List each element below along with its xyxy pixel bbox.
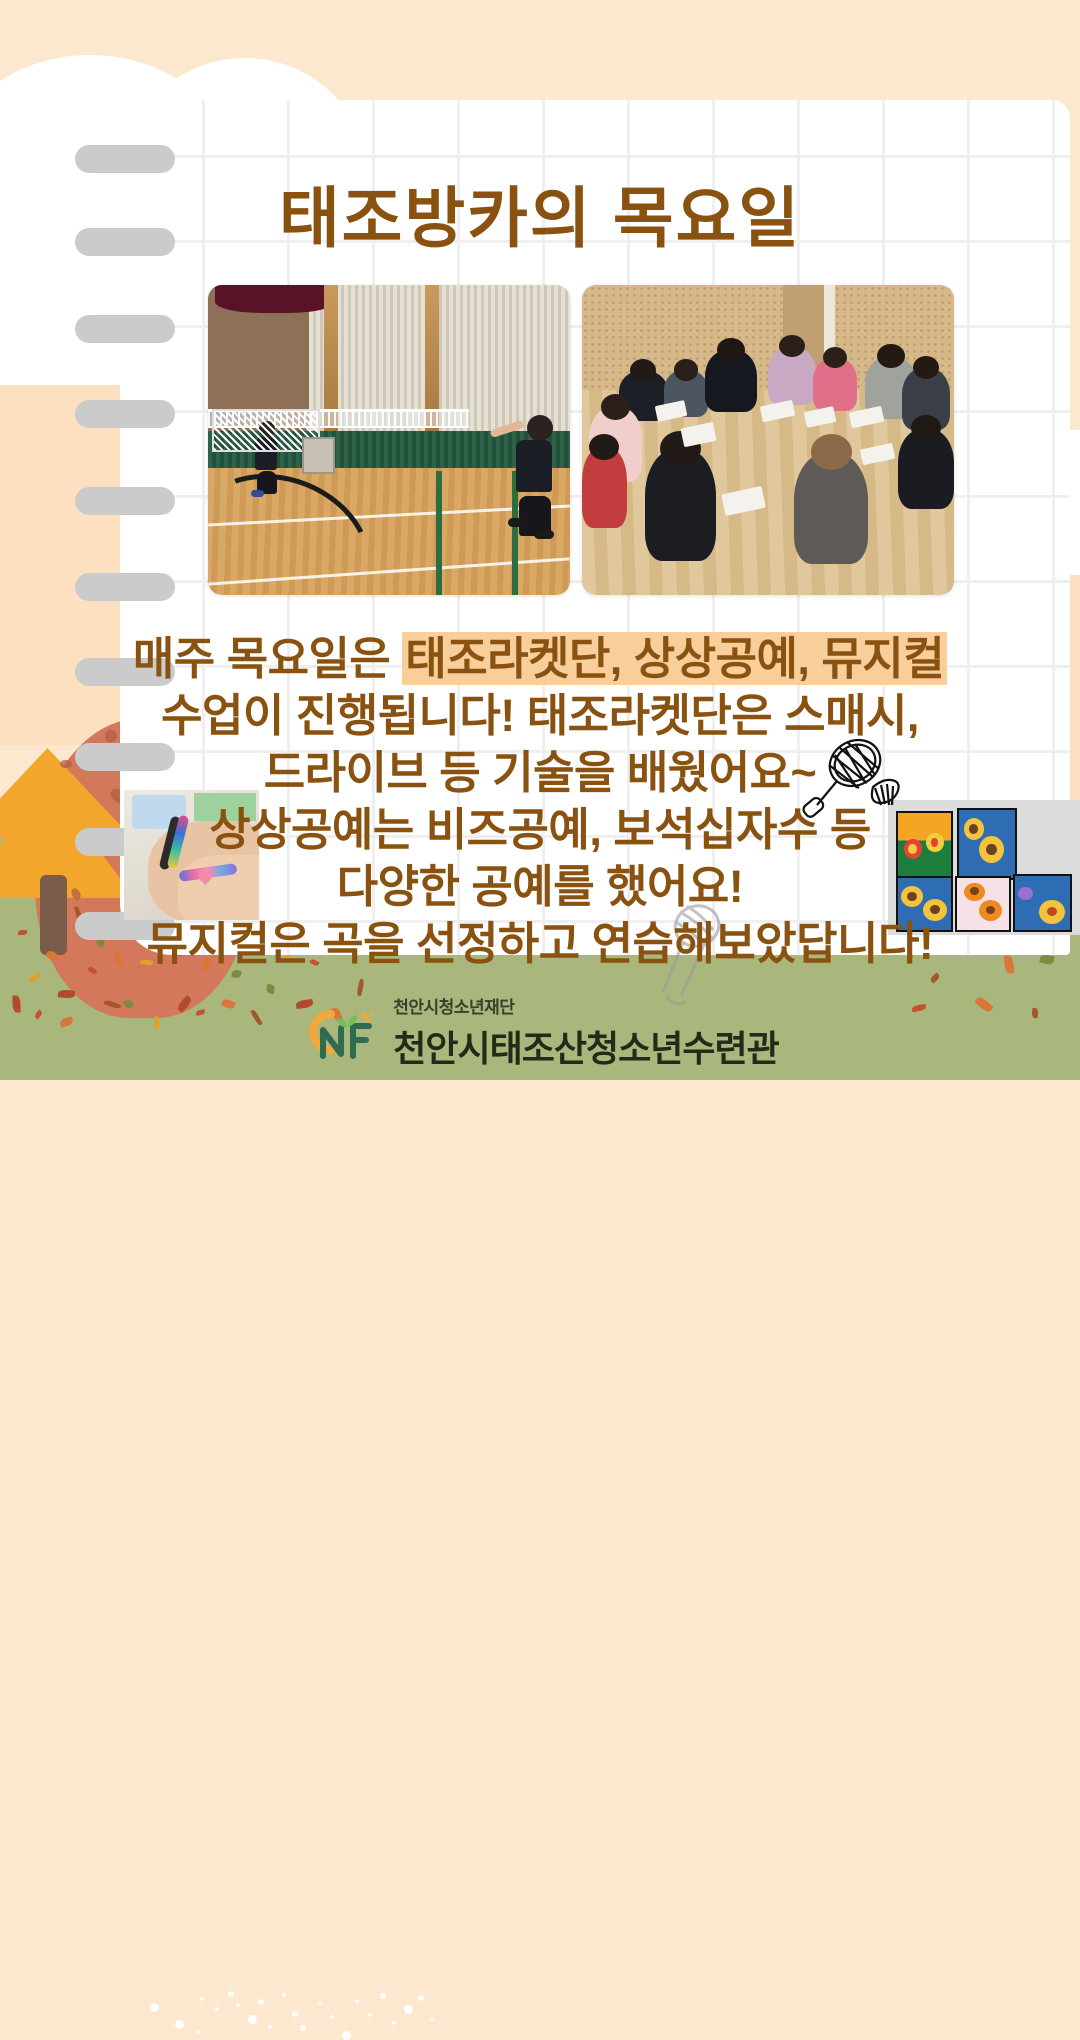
sparkle-dot (228, 1991, 234, 1997)
sparkle-dot (292, 2011, 298, 2017)
sparkle-dot (430, 2017, 434, 2021)
gym-equipment-box (302, 437, 335, 474)
sparkle-dot (342, 2031, 351, 2040)
player-right-shoe-b (534, 530, 554, 539)
sparkle-dot (248, 2015, 257, 2024)
sparkle-dot (404, 2005, 413, 2014)
sparkle-dot (368, 2013, 372, 2017)
player-right-head (527, 415, 553, 441)
seated-person-head (811, 434, 852, 470)
body-paragraph: 매주 목요일은 태조라켓단, 상상공예, 뮤지컬 수업이 진행됩니다! 태조라켓… (0, 630, 1080, 972)
seated-person-head (877, 344, 905, 368)
sparkle-dot (300, 2025, 306, 2031)
binder-tab-5 (75, 487, 175, 515)
footer-org-main: 천안시태조산청소년수련관 (393, 1020, 778, 1072)
sparkle-dot (380, 1993, 386, 1999)
photo-badminton-gym (208, 285, 570, 595)
sparkle-dot (200, 1997, 204, 2001)
body-line-1-highlight: 태조라켓단, 상상공예, 뮤지컬 (402, 632, 947, 685)
page-title: 태조방카의 목요일 (0, 165, 1080, 261)
seated-person-head (589, 434, 619, 460)
footer-band: 천안시청소년재단 천안시태조산청소년수련관 (0, 985, 1080, 1080)
binder-tab-4 (75, 400, 175, 428)
cnyf-sprout-logo-icon (301, 1004, 379, 1062)
binder-tab-6 (75, 573, 175, 601)
player-right-shoe-a (508, 518, 528, 527)
sparkle-dot (418, 1995, 424, 2001)
sparkle-dot (330, 2015, 334, 2019)
badminton-racket-shuttlecock-icon (795, 735, 905, 830)
gym-court-line-green (436, 471, 442, 595)
seated-person-head (823, 347, 847, 368)
sparkle-dot (258, 1999, 264, 2005)
sparkle-dot (268, 2025, 272, 2029)
seated-person-body (645, 449, 716, 561)
footer-org-sub: 천안시청소년재단 (393, 993, 778, 1018)
gym-stage-drape (215, 285, 334, 313)
body-line-1-pre: 매주 목요일은 (133, 633, 402, 684)
body-line-6: 뮤지컬은 곡을 선정하고 연습해보았답니다! (0, 915, 1080, 972)
player-right-body (516, 440, 552, 492)
binder-tab-3 (75, 315, 175, 343)
footer-org-text: 천안시청소년재단 천안시태조산청소년수련관 (393, 993, 778, 1072)
footer-logo-block: 천안시청소년재단 천안시태조산청소년수련관 (0, 993, 1080, 1072)
sparkle-dot (175, 2020, 184, 2029)
sparkle-dot (236, 2003, 240, 2007)
body-line-3: 드라이브 등 기술을 배웠어요~ (0, 744, 1080, 801)
seated-person-head (601, 394, 631, 420)
sparkle-dot (318, 2001, 322, 2005)
sparkle-dot (282, 1993, 286, 1997)
sparkle-dot (150, 2003, 159, 2012)
photo-musical-circle (582, 285, 954, 595)
seated-person-head (717, 338, 745, 362)
body-line-2: 수업이 진행됩니다! 태조라켓단은 스매시, (0, 687, 1080, 744)
seated-person-head (913, 356, 939, 379)
player-left-shoe (251, 490, 264, 497)
seated-person-head (911, 415, 941, 441)
body-line-5: 다양한 공예를 했어요! (0, 858, 1080, 915)
sparkle-dot (355, 1999, 359, 2003)
sparkle-dot (392, 2021, 396, 2025)
body-line-4: 상상공예는 비즈공예, 보석십자수 등 (0, 801, 1080, 858)
sparkle-dot (215, 2007, 219, 2011)
sparkle-dot (196, 2030, 200, 2034)
seated-person-head (674, 359, 698, 380)
body-line-1: 매주 목요일은 태조라켓단, 상상공예, 뮤지컬 (0, 630, 1080, 687)
